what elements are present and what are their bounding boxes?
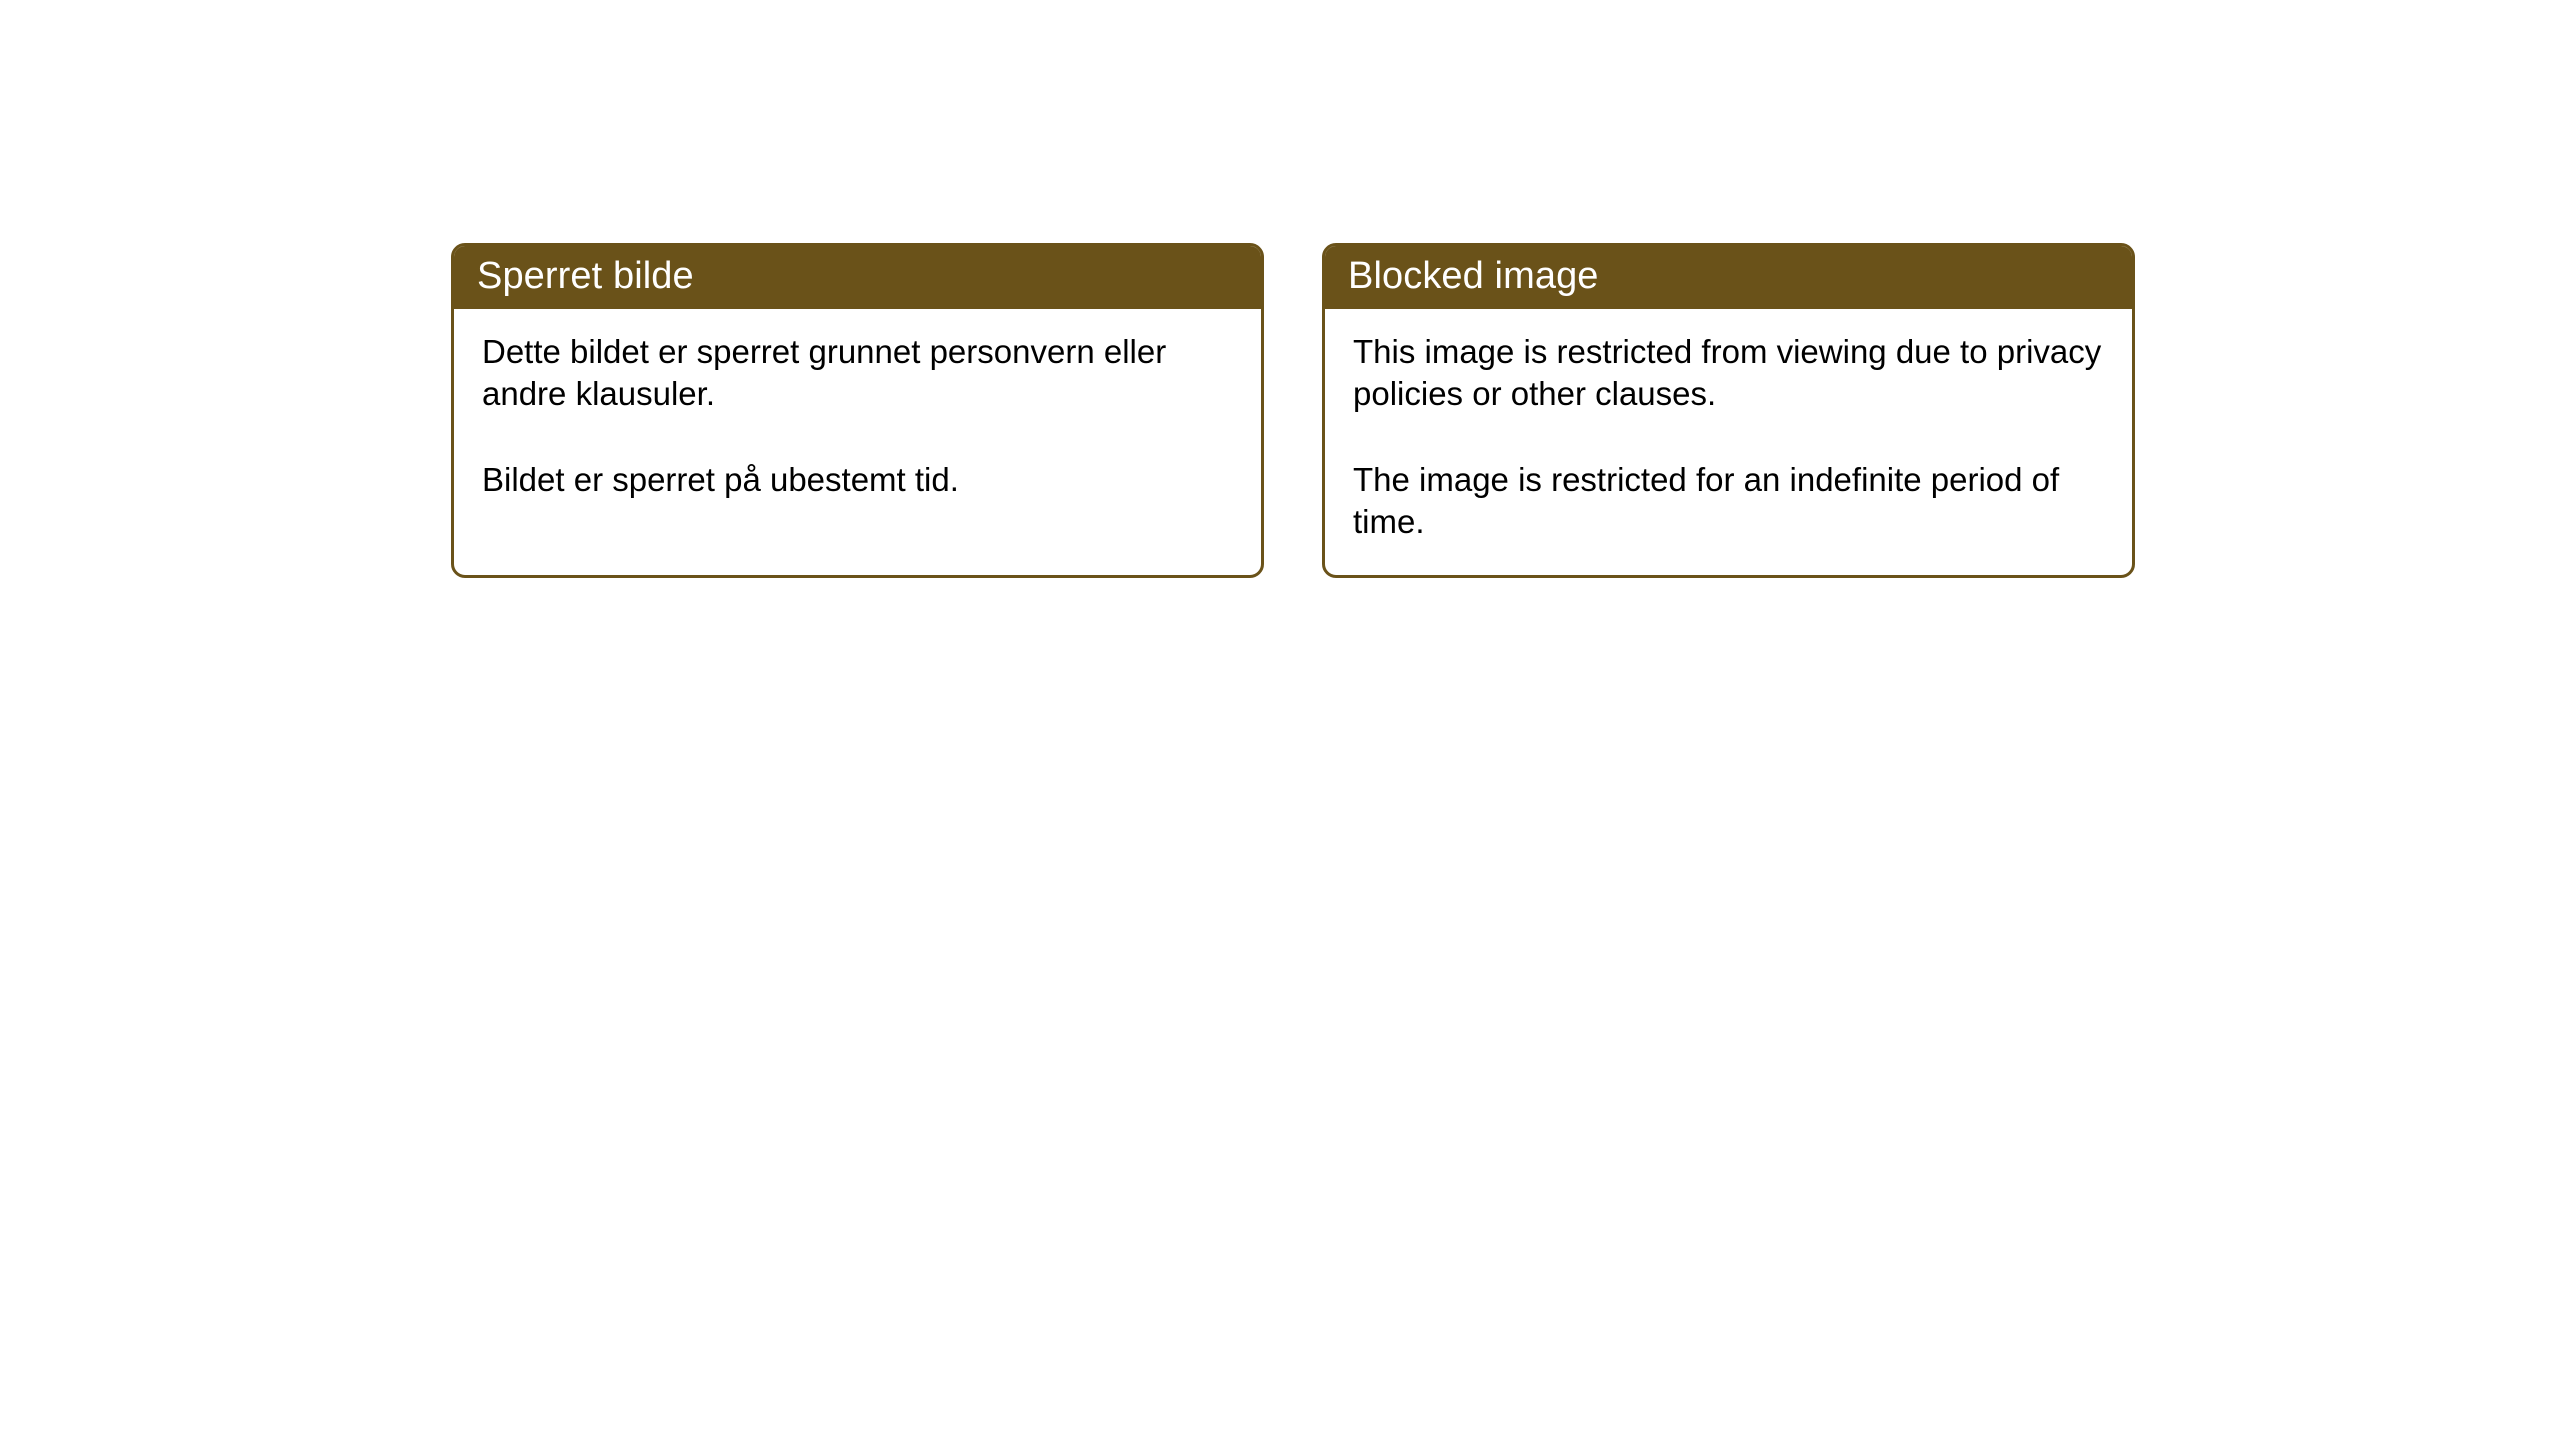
blocked-image-notice-area: Sperret bilde Dette bildet er sperret gr… xyxy=(451,243,2135,578)
blocked-image-notice-card-en: Blocked image This image is restricted f… xyxy=(1322,243,2135,578)
notice-card-title-no: Sperret bilde xyxy=(453,245,1262,309)
notice-card-body-no: Dette bildet er sperret grunnet personve… xyxy=(454,309,1261,575)
blocked-image-notice-card-no: Sperret bilde Dette bildet er sperret gr… xyxy=(451,243,1264,578)
notice-paragraph-reason-en: This image is restricted from viewing du… xyxy=(1353,331,2106,415)
notice-paragraph-reason-no: Dette bildet er sperret grunnet personve… xyxy=(482,331,1235,415)
notice-card-body-en: This image is restricted from viewing du… xyxy=(1325,309,2132,575)
notice-paragraph-duration-no: Bildet er sperret på ubestemt tid. xyxy=(482,459,1235,501)
notice-paragraph-duration-en: The image is restricted for an indefinit… xyxy=(1353,459,2106,543)
notice-card-title-en: Blocked image xyxy=(1324,245,2133,309)
